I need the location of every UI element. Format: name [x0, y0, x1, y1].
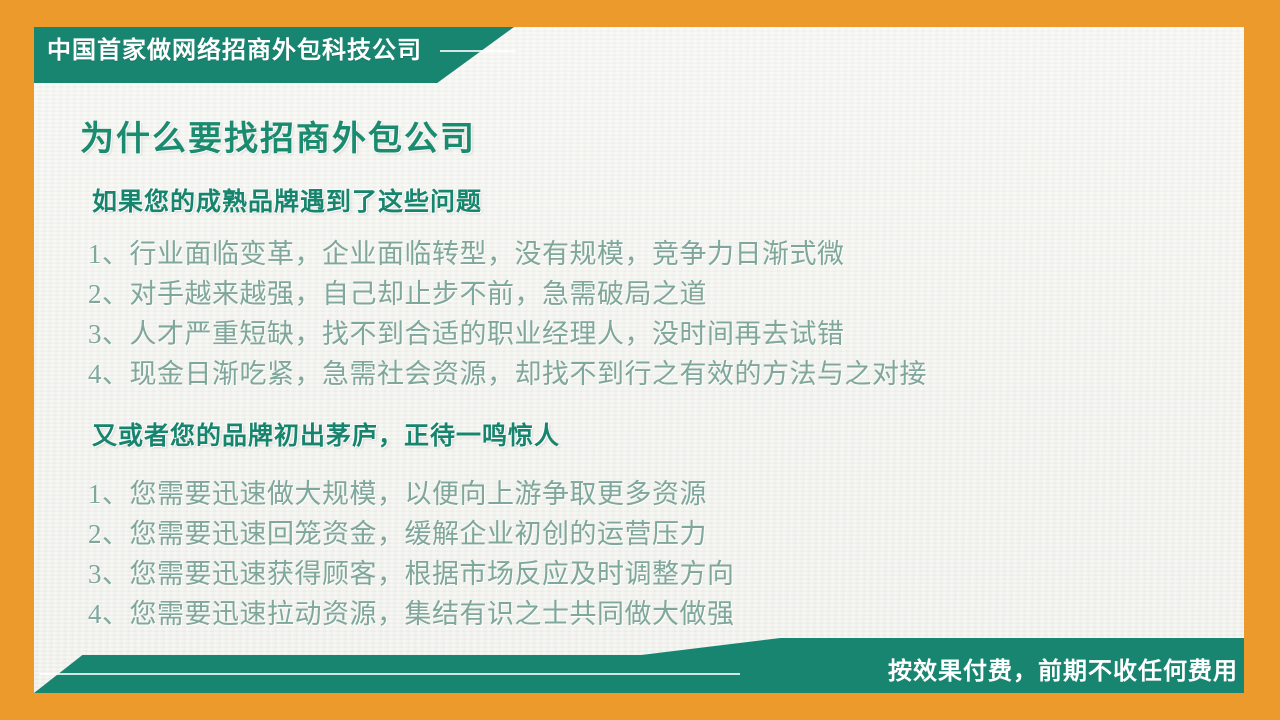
list-item: 3、您需要迅速获得顾客，根据市场反应及时调整方向 — [88, 554, 1188, 594]
list-item: 4、现金日渐吃紧，急需社会资源，却找不到行之有效的方法与之对接 — [88, 354, 1188, 394]
section-heading-2: 又或者您的品牌初出茅庐，正待一鸣惊人 — [92, 424, 560, 449]
list-item: 2、您需要迅速回笼资金，缓解企业初创的运营压力 — [88, 514, 1188, 554]
list-item: 1、您需要迅速做大规模，以便向上游争取更多资源 — [88, 474, 1188, 514]
section-list-1: 1、行业面临变革，企业面临转型，没有规模，竞争力日渐式微 2、对手越来越强，自己… — [88, 234, 1188, 394]
section-list-2: 1、您需要迅速做大规模，以便向上游争取更多资源 2、您需要迅速回笼资金，缓解企业… — [88, 474, 1188, 634]
bottom-banner-accent-line — [40, 673, 740, 675]
page-title: 为什么要找招商外包公司 — [80, 122, 476, 156]
top-banner-accent-line — [440, 50, 516, 52]
list-item: 1、行业面临变革，企业面临转型，没有规模，竞争力日渐式微 — [88, 234, 1188, 274]
bottom-banner-text: 按效果付费，前期不收任何费用 — [888, 660, 1238, 684]
section-heading-1: 如果您的成熟品牌遇到了这些问题 — [92, 190, 482, 215]
slide-root: 中国首家做网络招商外包科技公司 为什么要找招商外包公司 如果您的成熟品牌遇到了这… — [0, 0, 1280, 720]
list-item: 4、您需要迅速拉动资源，集结有识之士共同做大做强 — [88, 594, 1188, 634]
list-item: 3、人才严重短缺，找不到合适的职业经理人，没时间再去试错 — [88, 314, 1188, 354]
list-item: 2、对手越来越强，自己却止步不前，急需破局之道 — [88, 274, 1188, 314]
top-banner-text: 中国首家做网络招商外包科技公司 — [47, 39, 422, 63]
